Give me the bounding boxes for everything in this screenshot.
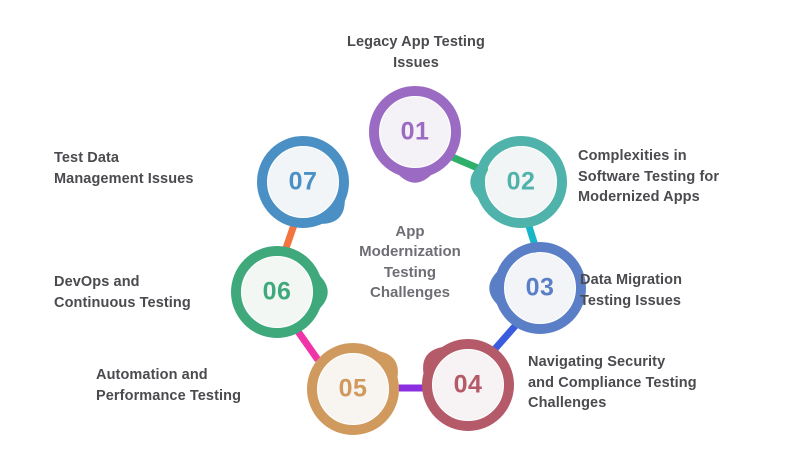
connector-03-04 [494, 325, 516, 350]
node-number: 05 [339, 375, 368, 403]
node-05[interactable]: 05 [312, 348, 398, 430]
node-07[interactable]: 07 [262, 141, 345, 224]
node-label-04: Navigating Security and Compliance Testi… [528, 352, 758, 414]
node-label-02: Complexities in Software Testing for Mod… [578, 146, 783, 208]
node-label-01: Legacy App Testing Issues [316, 32, 516, 73]
node-number: 06 [263, 278, 292, 306]
node-label-07: Test Data Management Issues [54, 148, 264, 189]
node-number: 04 [454, 371, 483, 399]
node-04[interactable]: 04 [423, 344, 509, 426]
infographic-canvas: 01 02 03 04 [0, 0, 788, 475]
center-title: App Modernization Testing Challenges [330, 222, 490, 303]
node-label-03: Data Migration Testing Issues [580, 270, 785, 311]
node-number: 07 [289, 168, 318, 196]
node-number: 01 [401, 118, 430, 146]
node-03[interactable]: 03 [489, 247, 581, 329]
node-label-05: Automation and Performance Testing [96, 365, 296, 406]
connector-05-06 [297, 330, 318, 360]
node-number: 03 [526, 274, 555, 302]
node-label-06: DevOps and Continuous Testing [54, 272, 254, 313]
node-02[interactable]: 02 [470, 141, 562, 223]
node-number: 02 [507, 168, 536, 196]
node-01[interactable]: 01 [374, 91, 456, 183]
